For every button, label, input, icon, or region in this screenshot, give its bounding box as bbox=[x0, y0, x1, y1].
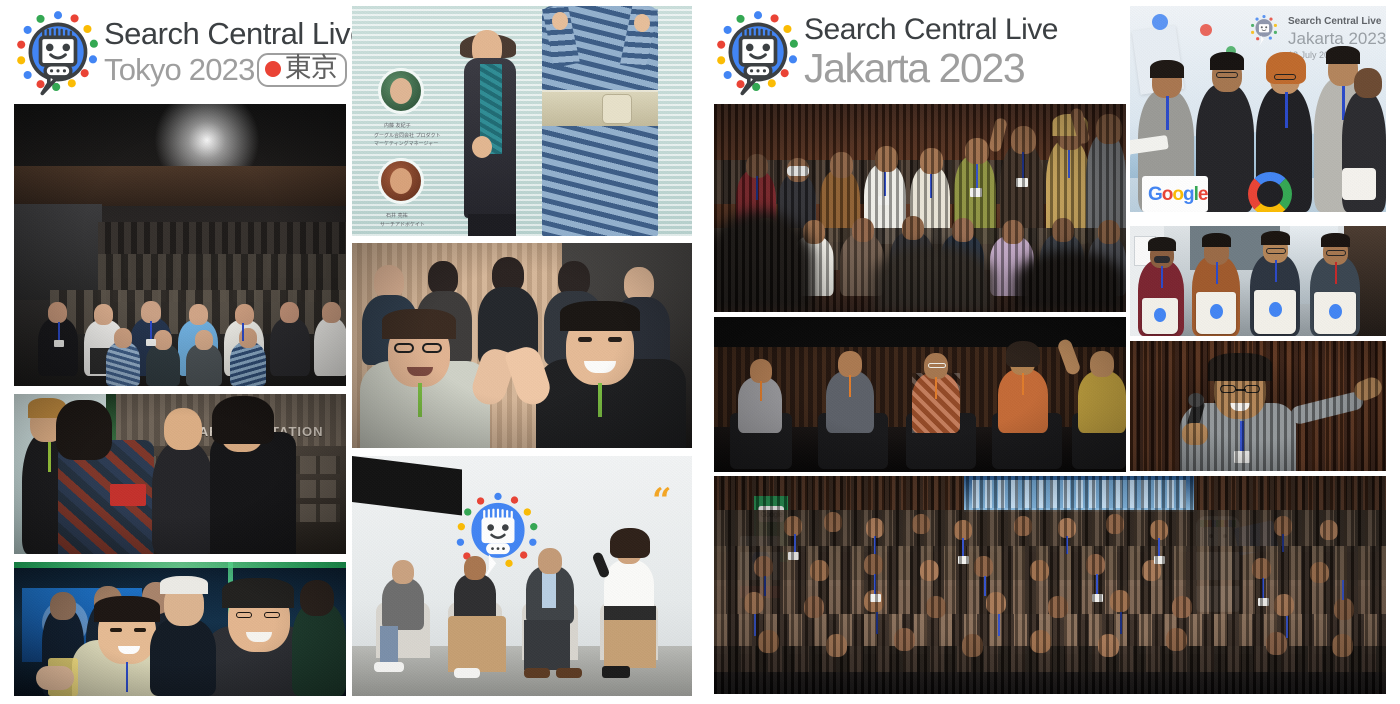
photo-tokyo-charging-station[interactable]: CHARGING STATION bbox=[14, 394, 346, 554]
photo-scene bbox=[1130, 226, 1386, 336]
photo-jakarta-audience-cheering[interactable] bbox=[714, 104, 1126, 312]
photo-jakarta-group-photo[interactable]: Google bbox=[714, 476, 1386, 694]
tokyo-title-line2: Tokyo 2023 bbox=[104, 54, 255, 85]
photo-tokyo-audience-wide[interactable] bbox=[14, 104, 346, 386]
photo-scene: “ bbox=[352, 456, 692, 696]
photo-scene: 内藤 友紀子 グーグル合同会社 プロダクト マーケティングマネージャー 石井 亮… bbox=[352, 6, 692, 236]
tokyo-japan-badge: 東京 bbox=[257, 53, 347, 87]
tokyo-title-line2-row: Tokyo 2023 東京 bbox=[104, 53, 367, 87]
audience-crowd bbox=[714, 104, 1126, 312]
photo-scene bbox=[1130, 341, 1386, 471]
photo-scene: Google bbox=[714, 476, 1386, 694]
tokyo-title-line1: Search Central Live bbox=[104, 18, 367, 49]
google-sign: Google bbox=[758, 506, 784, 522]
photo-scene bbox=[14, 104, 346, 386]
photo-jakarta-speaker-mic[interactable] bbox=[1130, 341, 1386, 471]
photo-scene: Search Central Live Jakarta 2023 12 July… bbox=[1130, 6, 1386, 212]
search-central-mascot-icon bbox=[12, 6, 104, 98]
photo-scene: CHARGING STATION bbox=[14, 394, 346, 554]
photo-tokyo-heart-hands[interactable] bbox=[352, 243, 692, 448]
tokyo-logo-lockup: Search Central Live Tokyo 2023 東京 bbox=[12, 6, 367, 98]
photo-tokyo-networking-drinks[interactable] bbox=[14, 562, 346, 696]
section-tokyo: Search Central Live Tokyo 2023 東京 bbox=[0, 0, 700, 704]
jakarta-title-line1: Search Central Live bbox=[804, 15, 1058, 45]
photo-tokyo-panel-stage[interactable]: “ bbox=[352, 456, 692, 696]
group-photo-crowd bbox=[714, 476, 1386, 694]
photo-jakarta-swag-totes[interactable] bbox=[1130, 226, 1386, 336]
photo-collage-board: Search Central Live Tokyo 2023 東京 bbox=[0, 0, 1400, 704]
japan-flag-dot-icon bbox=[265, 61, 281, 77]
section-jakarta: Search Central Live Jakarta 2023 bbox=[700, 0, 1400, 704]
photo-jakarta-panel-stage[interactable] bbox=[714, 317, 1126, 472]
jakarta-logo-lockup: Search Central Live Jakarta 2023 bbox=[712, 6, 1058, 98]
photo-scene bbox=[352, 243, 692, 448]
jakarta-wordmark: Search Central Live Jakarta 2023 bbox=[804, 15, 1058, 89]
tokyo-wordmark: Search Central Live Tokyo 2023 東京 bbox=[104, 18, 367, 87]
search-central-mascot-icon bbox=[712, 6, 804, 98]
photo-scene bbox=[14, 562, 346, 696]
photo-scene bbox=[714, 104, 1126, 312]
photo-scene bbox=[714, 317, 1126, 472]
jakarta-title-line2: Jakarta 2023 bbox=[804, 48, 1058, 89]
photo-tokyo-stage-yukata[interactable]: 内藤 友紀子 グーグル合同会社 プロダクト マーケティングマネージャー 石井 亮… bbox=[352, 6, 692, 236]
tokyo-japan-badge-label: 東京 bbox=[285, 55, 337, 82]
photo-jakarta-photo-wall[interactable]: Search Central Live Jakarta 2023 12 July… bbox=[1130, 6, 1386, 212]
